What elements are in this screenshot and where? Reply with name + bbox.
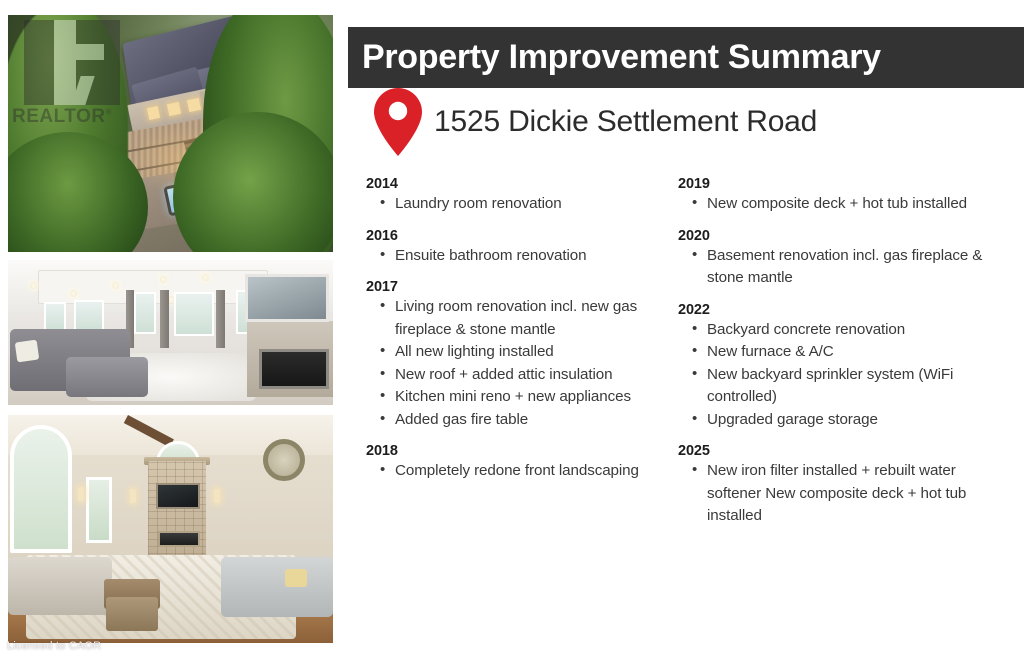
improvement-item: Upgraded garage storage — [692, 409, 990, 432]
gas-fireplace — [259, 349, 329, 389]
improvement-list: Backyard concrete renovationNew furnace … — [692, 319, 990, 432]
gas-fireplace — [158, 531, 200, 547]
window — [44, 302, 66, 332]
year-block-2019: 2019 New composite deck + hot tub instal… — [678, 176, 990, 216]
year-label: 2014 — [366, 176, 678, 192]
improvement-item: New roof + added attic insulation — [380, 364, 678, 387]
improvement-item: Basement renovation incl. gas fireplace … — [692, 245, 990, 290]
window — [134, 292, 156, 334]
improvement-list: New iron filter installed + rebuilt wate… — [692, 460, 990, 528]
improvement-item: New furnace & A/C — [692, 341, 990, 364]
improvement-item: Kitchen mini reno + new appliances — [380, 386, 678, 409]
aerial-scene — [8, 15, 333, 252]
photo-great-room — [8, 415, 333, 643]
curtain — [216, 290, 225, 348]
year-label: 2018 — [366, 443, 678, 459]
year-block-2018: 2018 Completely redone front landscaping — [366, 443, 678, 483]
window-lit — [147, 106, 160, 120]
wall-sconce — [130, 489, 136, 503]
column-left: 2014Laundry room renovation2016 Ensuite … — [366, 176, 678, 636]
year-block-2017: 2017Living room renovation incl. new gas… — [366, 279, 678, 431]
improvement-list: Ensuite bathroom renovation — [380, 245, 678, 268]
improvement-list: New composite deck + hot tub installed — [692, 193, 990, 216]
page-title: Property Improvement Summary — [348, 38, 881, 77]
location-pin-icon — [370, 86, 426, 158]
photo-living-room — [8, 260, 333, 405]
improvement-list: Completely redone front landscaping — [380, 460, 678, 483]
wall-sconce — [78, 487, 84, 501]
wall-sconce — [214, 489, 220, 503]
property-summary-flyer: REALTOR® — [0, 0, 1024, 655]
year-label: 2016 — [366, 228, 678, 244]
improvement-item: Backyard concrete renovation — [692, 319, 990, 342]
property-address: 1525 Dickie Settlement Road — [434, 105, 817, 139]
year-label: 2020 — [678, 228, 990, 244]
pot-light — [30, 282, 37, 289]
year-label: 2017 — [366, 279, 678, 295]
pot-light — [202, 274, 209, 281]
year-label: 2025 — [678, 443, 990, 459]
improvement-item: All new lighting installed — [380, 341, 678, 364]
window — [74, 300, 104, 332]
pot-light — [112, 282, 119, 289]
pot-light — [160, 276, 167, 283]
year-block-2025: 2025New iron filter installed + rebuilt … — [678, 443, 990, 528]
window-lit — [187, 98, 201, 112]
year-label: 2019 — [678, 176, 990, 192]
photo-column: REALTOR® — [8, 15, 333, 643]
improvement-item: Ensuite bathroom renovation — [380, 245, 678, 268]
improvement-item: New iron filter installed + rebuilt wate… — [692, 460, 990, 528]
improvement-list: Living room renovation incl. new gas fir… — [380, 296, 678, 431]
improvement-item: New composite deck + hot tub installed — [692, 193, 990, 216]
header-bar: Property Improvement Summary — [348, 27, 1024, 88]
curtain — [160, 290, 169, 348]
window-bay — [174, 292, 214, 336]
sofa-left — [8, 557, 112, 615]
arched-window-large — [10, 425, 72, 553]
improvement-item: Living room renovation incl. new gas fir… — [380, 296, 678, 341]
year-label: 2022 — [678, 302, 990, 318]
photo-aerial-dusk-exterior: REALTOR® — [8, 15, 333, 252]
mounted-tv — [156, 483, 200, 509]
window-lit — [167, 102, 181, 116]
improvement-item: Added gas fire table — [380, 409, 678, 432]
improvement-item: New backyard sprinkler system (WiFi cont… — [692, 364, 990, 409]
wall-mirror — [245, 274, 329, 322]
year-block-2022: 2022Backyard concrete renovationNew furn… — [678, 302, 990, 432]
sofa-chaise — [66, 357, 148, 397]
decorative-wall-clock — [263, 439, 305, 481]
licensed-watermark: Licensed to CAOR — [7, 640, 101, 652]
address-row: 1525 Dickie Settlement Road — [370, 86, 1020, 158]
year-block-2016: 2016 Ensuite bathroom renovation — [366, 228, 678, 268]
column-right: 2019 New composite deck + hot tub instal… — [678, 176, 990, 636]
improvement-item: Laundry room renovation — [380, 193, 678, 216]
throw-pillow — [15, 340, 40, 363]
side-window — [86, 477, 112, 543]
sofa-right — [221, 557, 333, 617]
improvement-columns: 2014Laundry room renovation2016 Ensuite … — [366, 176, 1020, 636]
yellow-throw-pillow — [285, 569, 307, 587]
great-room-scene — [8, 415, 333, 643]
year-block-2020: 2020Basement renovation incl. gas firepl… — [678, 228, 990, 290]
pot-light — [70, 290, 77, 297]
improvement-list: Laundry room renovation — [380, 193, 678, 216]
ottoman — [106, 597, 158, 631]
improvement-list: Basement renovation incl. gas fireplace … — [692, 245, 990, 290]
improvement-item: Completely redone front landscaping — [380, 460, 678, 483]
living-room-scene — [8, 260, 333, 405]
year-block-2014: 2014Laundry room renovation — [366, 176, 678, 216]
